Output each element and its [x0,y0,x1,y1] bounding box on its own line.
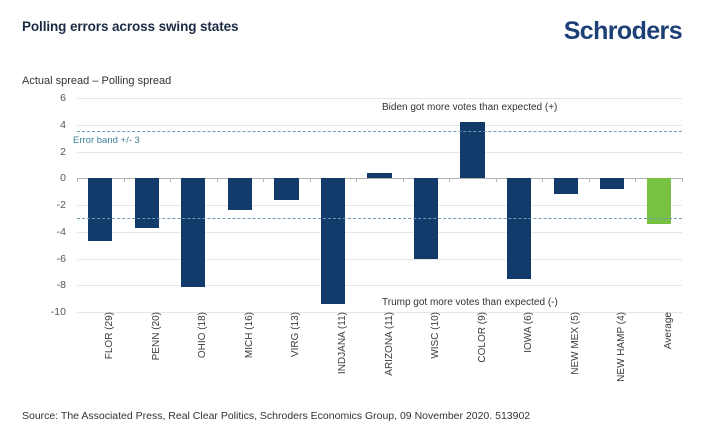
y-axis-tick-label: -10 [26,306,66,318]
y-axis-tick-label: -6 [26,253,66,265]
x-axis-label: NEW MEX (5) [570,312,581,375]
error-band-line [77,131,682,132]
y-axis-tick-label: -2 [26,199,66,211]
gridline [77,259,682,260]
gridline [77,232,682,233]
x-axis-label: INDJANA (11) [337,312,348,374]
x-axis-tick-mark [542,178,543,182]
x-axis-label: MICH (16) [244,312,255,358]
bar-new-hamp-4[interactable] [600,178,624,189]
x-axis-label: PENN (20) [151,312,162,360]
y-axis-tick-label: -4 [26,226,66,238]
gridline [77,152,682,153]
bar-arizona-11[interactable] [367,173,391,178]
gridline [77,125,682,126]
x-axis-tick-mark [682,178,683,182]
x-axis-label: Average [663,312,674,349]
x-axis-tick-mark [217,178,218,182]
gridline [77,205,682,206]
x-axis-label: NEW HAMP (4) [616,312,627,382]
x-axis-tick-mark [263,178,264,182]
y-axis-tick-label: 4 [26,119,66,131]
x-axis-label: COLOR (9) [477,312,488,363]
y-axis-tick-label: 2 [26,146,66,158]
x-axis-label: ARIZONA (11) [384,312,395,376]
chart-annotation: Trump got more votes than expected (-) [382,297,558,308]
x-axis-label: FLOR (29) [104,312,115,359]
x-axis-label: WISC (10) [430,312,441,359]
x-axis-tick-mark [77,178,78,182]
y-axis-tick-label: 0 [26,172,66,184]
x-axis-tick-mark [310,178,311,182]
x-axis-tick-mark [124,178,125,182]
zero-axis-line [77,178,682,179]
y-axis-tick-label: 6 [26,92,66,104]
bar-virg-13[interactable] [274,178,298,199]
bar-average[interactable] [647,178,671,223]
x-axis-label: VIRG (13) [290,312,301,357]
bar-mich-16[interactable] [228,178,252,210]
gridline [77,285,682,286]
error-band-label: Error band +/- 3 [73,135,140,146]
page-title: Polling errors across swing states [22,19,238,34]
x-axis-tick-mark [496,178,497,182]
x-axis-tick-mark [170,178,171,182]
chart-annotation: Biden got more votes than expected (+) [382,102,557,113]
plot-canvas: 6420-2-4-6-8-10Error band +/- 3Biden got… [77,98,682,312]
bar-new-mex-5[interactable] [554,178,578,194]
y-axis-tick-label: -8 [26,279,66,291]
x-axis-tick-mark [403,178,404,182]
x-axis-labels: FLOR (29)PENN (20)OHIO (18)MICH (16)VIRG… [77,312,682,402]
gridline [77,98,682,99]
x-axis-label: OHIO (18) [197,312,208,358]
y-axis-caption: Actual spread – Polling spread [22,75,171,87]
x-axis-tick-mark [356,178,357,182]
source-note: Source: The Associated Press, Real Clear… [22,410,530,422]
plot-area: 6420-2-4-6-8-10Error band +/- 3Biden got… [22,98,682,314]
schroders-logo: Schroders [564,17,682,46]
chart-page: Polling errors across swing states Schro… [0,0,704,446]
bar-ohio-18[interactable] [181,178,205,286]
error-band-line [77,218,682,219]
x-axis-tick-mark [589,178,590,182]
bar-indjana-11[interactable] [321,178,345,304]
x-axis-tick-mark [449,178,450,182]
x-axis-label: IOWA (6) [523,312,534,353]
bar-flor-29[interactable] [88,178,112,241]
bar-penn-20[interactable] [135,178,159,227]
bar-iowa-6[interactable] [507,178,531,278]
x-axis-tick-mark [635,178,636,182]
